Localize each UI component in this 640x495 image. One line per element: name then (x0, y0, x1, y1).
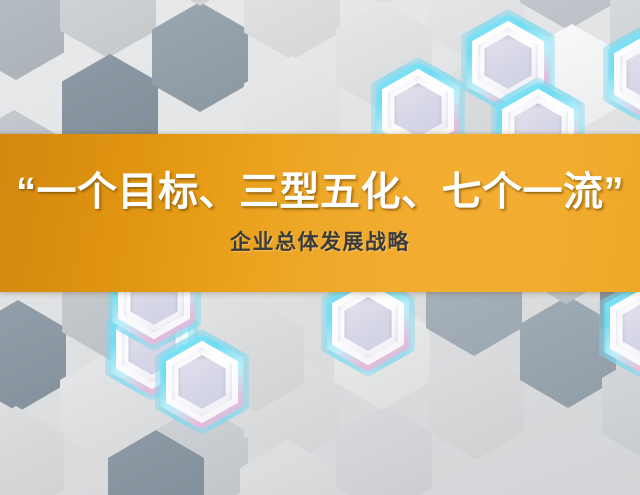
background-hexagon (240, 440, 336, 495)
glow-hexagon (608, 26, 640, 122)
background-hexagon (60, 0, 156, 58)
background-hexagon (244, 0, 340, 60)
background-hexagon (152, 2, 248, 112)
background-hexagon (0, 300, 66, 412)
background-hexagon (428, 348, 524, 460)
background-hexagon (336, 404, 432, 495)
glow-hexagon (160, 334, 244, 430)
glow-hexagon (604, 280, 640, 376)
background-hexagon (152, 0, 248, 6)
title-banner: “一个目标、三型五化、七个一流” 企业总体发展战略 (0, 134, 640, 292)
background-hexagon (0, 406, 64, 495)
background-hexagon (0, 0, 64, 80)
page-title: “一个目标、三型五化、七个一流” (16, 171, 624, 213)
presentation-slide: “一个目标、三型五化、七个一流” 企业总体发展战略 (0, 0, 640, 495)
page-subtitle: 企业总体发展战略 (230, 226, 410, 256)
